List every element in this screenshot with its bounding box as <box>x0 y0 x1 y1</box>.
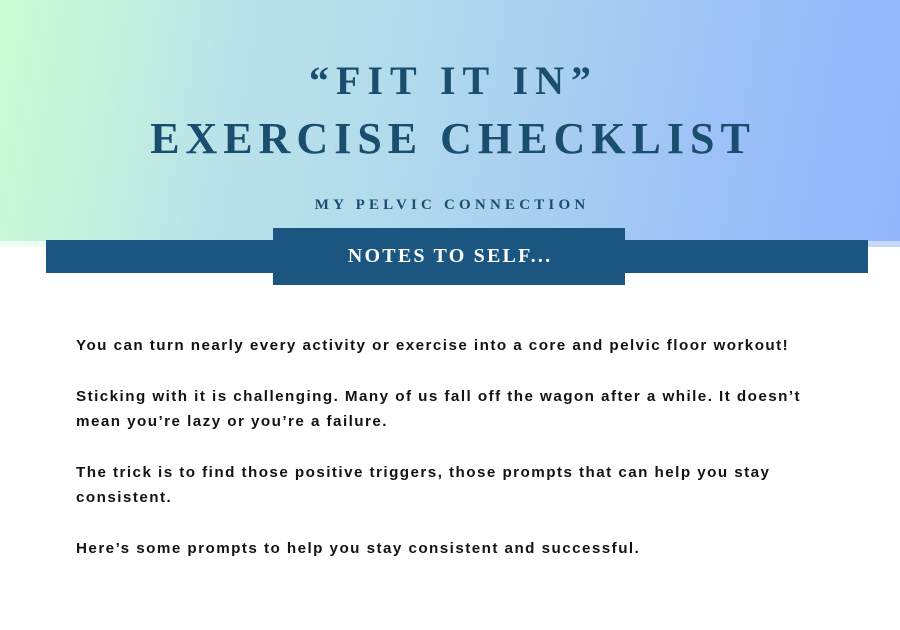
document-page: “FIT IT IN” EXERCISE CHECKLIST MY PELVIC… <box>0 0 900 630</box>
page-title-line-1: “FIT IT IN” <box>0 0 900 104</box>
body-paragraph: Sticking with it is challenging. Many of… <box>76 384 836 434</box>
brand-subtitle: MY PELVIC CONNECTION <box>0 164 900 214</box>
body-paragraph: Here’s some prompts to help you stay con… <box>76 536 836 561</box>
body-paragraph: The trick is to find those positive trig… <box>76 460 836 510</box>
ribbon-label: NOTES TO SELF... <box>346 245 553 268</box>
body-copy: You can turn nearly every activity or ex… <box>76 333 836 561</box>
page-title-line-2: EXERCISE CHECKLIST <box>0 104 900 164</box>
ribbon-center-block: NOTES TO SELF... <box>273 228 625 285</box>
body-paragraph: You can turn nearly every activity or ex… <box>76 333 836 358</box>
title-block: “FIT IT IN” EXERCISE CHECKLIST MY PELVIC… <box>0 0 900 214</box>
